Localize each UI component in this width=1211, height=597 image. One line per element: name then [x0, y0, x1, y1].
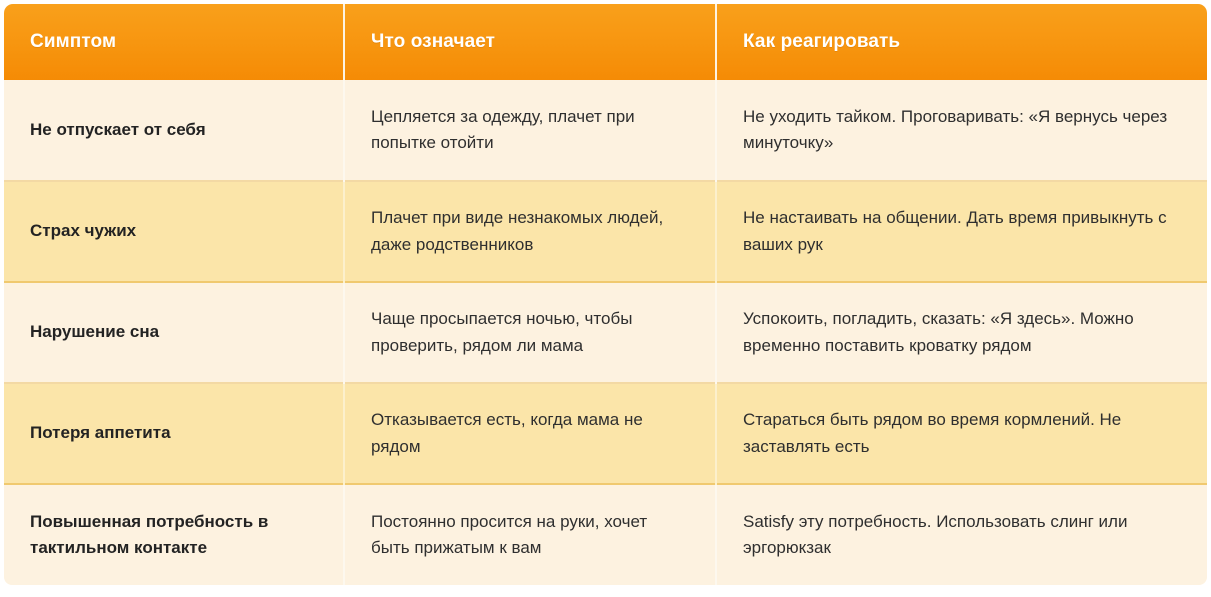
cell-meaning: Постоянно просится на руки, хочет быть п…: [344, 484, 716, 585]
table-header-row: Симптом Что означает Как реагировать: [4, 4, 1207, 80]
column-header-meaning: Что означает: [344, 4, 716, 80]
table-row: Страх чужих Плачет при виде незнакомых л…: [4, 181, 1207, 282]
column-header-action: Как реагировать: [716, 4, 1207, 80]
table-row: Повышенная потребность в тактильном конт…: [4, 484, 1207, 585]
cell-symptom: Не отпускает от себя: [4, 80, 344, 181]
table-row: Нарушение сна Чаще просыпается ночью, чт…: [4, 282, 1207, 383]
table-row: Не отпускает от себя Цепляется за одежду…: [4, 80, 1207, 181]
cell-meaning: Отказывается есть, когда мама не рядом: [344, 383, 716, 484]
cell-symptom: Повышенная потребность в тактильном конт…: [4, 484, 344, 585]
cell-action: Стараться быть рядом во время кормлений.…: [716, 383, 1207, 484]
cell-action: Не настаивать на общении. Дать время при…: [716, 181, 1207, 282]
table-body: Не отпускает от себя Цепляется за одежду…: [4, 80, 1207, 585]
table-row: Потеря аппетита Отказывается есть, когда…: [4, 383, 1207, 484]
cell-meaning: Плачет при виде незнакомых людей, даже р…: [344, 181, 716, 282]
column-header-symptom: Симптом: [4, 4, 344, 80]
cell-action: Успокоить, погладить, сказать: «Я здесь»…: [716, 282, 1207, 383]
cell-meaning: Цепляется за одежду, плачет при попытке …: [344, 80, 716, 181]
table-header: Симптом Что означает Как реагировать: [4, 4, 1207, 80]
cell-meaning: Чаще просыпается ночью, чтобы проверить,…: [344, 282, 716, 383]
cell-action: Satisfy эту потребность. Использовать сл…: [716, 484, 1207, 585]
cell-action: Не уходить тайком. Проговаривать: «Я вер…: [716, 80, 1207, 181]
symptom-table-container: Симптом Что означает Как реагировать Не …: [4, 4, 1207, 594]
cell-symptom: Страх чужих: [4, 181, 344, 282]
cell-symptom: Нарушение сна: [4, 282, 344, 383]
cell-symptom: Потеря аппетита: [4, 383, 344, 484]
symptom-response-table: Симптом Что означает Как реагировать Не …: [4, 4, 1207, 585]
